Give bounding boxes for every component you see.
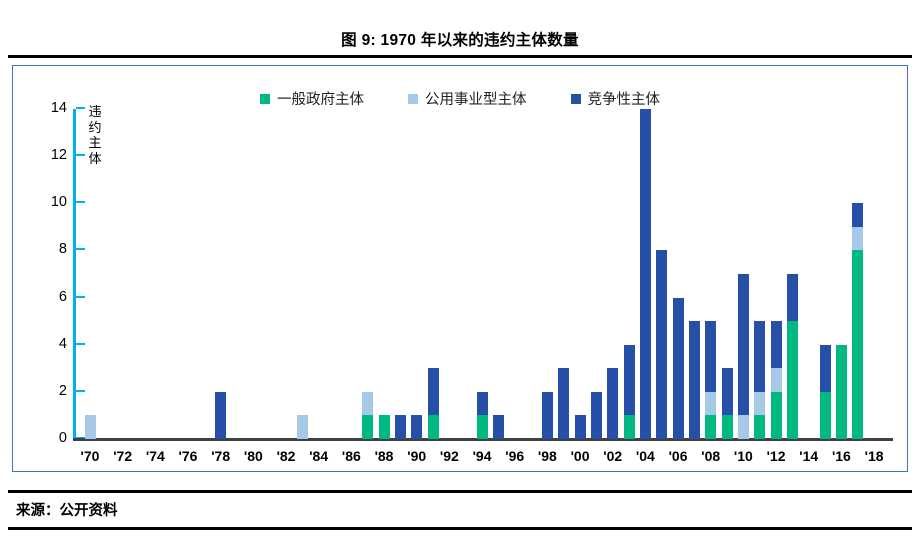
bar-1991[interactable]	[428, 368, 439, 439]
y-axis-tick-label: 4	[59, 336, 67, 352]
x-axis-tick-label: '10	[734, 448, 753, 464]
x-axis-tick-label: '76	[179, 448, 198, 464]
bar-segment	[771, 321, 782, 368]
chart-frame: 一般政府主体公用事业型主体竞争性主体 违约主体 02468101214 '70'…	[12, 65, 908, 472]
x-axis-tick-label: '80	[244, 448, 263, 464]
legend-swatch-icon	[260, 94, 270, 104]
bar-segment	[852, 250, 863, 439]
bar-2007[interactable]	[689, 321, 700, 439]
x-axis-tick-label: '82	[277, 448, 296, 464]
bar-segment	[542, 392, 553, 439]
x-axis-tick-label: '70	[81, 448, 100, 464]
x-axis-tick-label: '88	[375, 448, 394, 464]
bar-segment	[705, 321, 716, 392]
source-note: 来源：公开资料	[16, 499, 118, 520]
bar-2016[interactable]	[836, 345, 847, 439]
bar-segment	[656, 250, 667, 439]
x-axis-tick-label: '02	[603, 448, 622, 464]
bar-segment	[477, 392, 488, 416]
bar-segment	[624, 415, 635, 439]
bar-segment	[493, 415, 504, 439]
bar-segment	[738, 415, 749, 439]
bar-segment	[591, 392, 602, 439]
bar-segment	[85, 415, 96, 439]
bar-segment	[771, 368, 782, 392]
x-axis-tick-label: '90	[407, 448, 426, 464]
bar-segment	[754, 392, 765, 416]
bar-2005[interactable]	[656, 250, 667, 439]
y-axis-tick-label: 2	[59, 383, 67, 399]
y-axis-tick-label: 0	[59, 430, 67, 446]
bar-2011[interactable]	[754, 321, 765, 439]
x-axis-tick-label: '18	[865, 448, 884, 464]
bar-1998[interactable]	[542, 392, 553, 439]
x-axis-tick-label: '92	[440, 448, 459, 464]
bar-2001[interactable]	[591, 392, 602, 439]
bar-1995[interactable]	[493, 415, 504, 439]
x-axis-tick-label: '16	[832, 448, 851, 464]
legend-label: 公用事业型主体	[425, 88, 527, 109]
bar-segment	[738, 274, 749, 415]
bar-segment	[215, 392, 226, 439]
bar-segment	[836, 345, 847, 439]
bar-segment	[754, 415, 765, 439]
bar-segment	[411, 415, 422, 439]
bar-2000[interactable]	[575, 415, 586, 439]
bar-segment	[722, 368, 733, 415]
bar-segment	[477, 415, 488, 439]
x-axis-labels: '70'72'74'76'78'80'82'84'86'88'90'92'94'…	[73, 448, 893, 470]
y-axis-tick-label: 14	[51, 100, 67, 116]
bar-1990[interactable]	[411, 415, 422, 439]
bar-2006[interactable]	[673, 298, 684, 439]
legend-swatch-icon	[408, 94, 418, 104]
bar-1987[interactable]	[362, 392, 373, 439]
bar-segment	[428, 415, 439, 439]
x-axis-tick-label: '96	[505, 448, 524, 464]
bar-segment	[428, 368, 439, 415]
y-axis-tick-label: 10	[51, 194, 67, 210]
bar-segment	[362, 415, 373, 439]
page-title: 图 9: 1970 年以来的违约主体数量	[341, 28, 579, 50]
y-axis-tick-label: 6	[59, 289, 67, 305]
bar-segment	[852, 203, 863, 227]
y-axis-tick-label: 12	[51, 147, 67, 163]
bar-segment	[640, 109, 651, 439]
bar-segment	[297, 415, 308, 439]
x-axis-tick-label: '74	[146, 448, 165, 464]
title-container: 图 9: 1970 年以来的违约主体数量	[8, 22, 912, 56]
bar-segment	[362, 392, 373, 416]
bar-1999[interactable]	[558, 368, 569, 439]
x-axis-tick-label: '86	[342, 448, 361, 464]
bar-segment	[722, 415, 733, 439]
bar-2009[interactable]	[722, 368, 733, 439]
bar-1994[interactable]	[477, 392, 488, 439]
bar-2003[interactable]	[624, 345, 635, 439]
bar-1988[interactable]	[379, 415, 390, 439]
bar-segment	[787, 321, 798, 439]
x-axis-tick-label: '14	[799, 448, 818, 464]
chart-page: 图 9: 1970 年以来的违约主体数量 一般政府主体公用事业型主体竞争性主体 …	[0, 0, 920, 540]
x-axis-tick-label: '04	[636, 448, 655, 464]
bar-2002[interactable]	[607, 368, 618, 439]
bar-1983[interactable]	[297, 415, 308, 439]
x-axis-tick-label: '94	[473, 448, 492, 464]
bar-1970[interactable]	[85, 415, 96, 439]
legend-label: 一般政府主体	[277, 88, 364, 109]
bar-segment	[624, 345, 635, 416]
chart-legend: 一般政府主体公用事业型主体竞争性主体	[13, 88, 907, 109]
bar-2010[interactable]	[738, 274, 749, 439]
bar-segment	[689, 321, 700, 439]
legend-label: 竞争性主体	[588, 88, 661, 109]
legend-item-2[interactable]: 竞争性主体	[571, 88, 661, 109]
bar-2004[interactable]	[640, 109, 651, 439]
x-axis-tick-label: '72	[113, 448, 132, 464]
x-axis-tick-label: '06	[669, 448, 688, 464]
footer-divider-bottom	[8, 527, 912, 530]
x-axis-tick-label: '84	[309, 448, 328, 464]
bar-2017[interactable]	[852, 203, 863, 439]
bar-segment	[705, 392, 716, 416]
footer-divider-top	[8, 490, 912, 493]
bar-2013[interactable]	[787, 274, 798, 439]
bar-1989[interactable]	[395, 415, 406, 439]
plot-area: 违约主体 02468101214	[73, 109, 893, 439]
bar-2015[interactable]	[820, 345, 831, 439]
bar-segment	[771, 392, 782, 439]
title-divider	[8, 55, 912, 58]
y-axis-tick-label: 8	[59, 241, 67, 257]
bar-segment	[607, 368, 618, 439]
bar-segment	[787, 274, 798, 321]
bar-2008[interactable]	[705, 321, 716, 439]
bar-1978[interactable]	[215, 392, 226, 439]
bar-segment	[379, 415, 390, 439]
x-axis-tick-label: '08	[701, 448, 720, 464]
bar-2012[interactable]	[771, 321, 782, 439]
bar-segment	[558, 368, 569, 439]
bar-segment	[820, 392, 831, 439]
bar-segment	[852, 227, 863, 251]
bar-segment	[820, 345, 831, 392]
x-axis-tick-label: '98	[538, 448, 557, 464]
x-axis-tick-label: '12	[767, 448, 786, 464]
bar-segment	[395, 415, 406, 439]
bar-segment	[705, 415, 716, 439]
bar-segment	[754, 321, 765, 392]
legend-item-1[interactable]: 公用事业型主体	[408, 88, 527, 109]
bar-segment	[673, 298, 684, 439]
x-axis-tick-label: '78	[211, 448, 230, 464]
bar-segment	[575, 415, 586, 439]
legend-item-0[interactable]: 一般政府主体	[260, 88, 364, 109]
bar-series-container	[76, 109, 893, 439]
x-axis-tick-label: '00	[571, 448, 590, 464]
legend-swatch-icon	[571, 94, 581, 104]
